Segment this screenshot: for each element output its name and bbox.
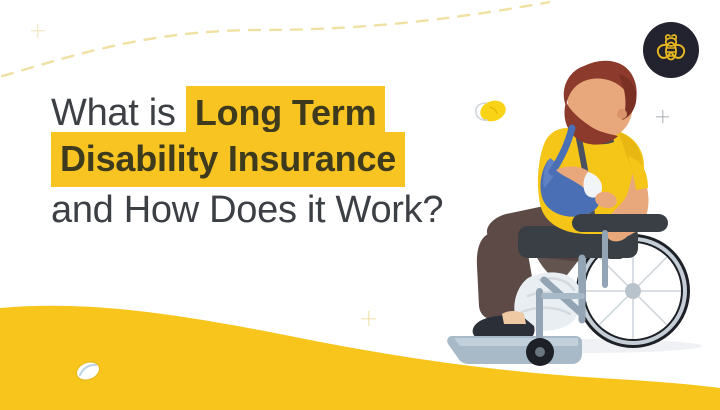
bee-logo[interactable] bbox=[643, 22, 699, 78]
pill-yellow-top-icon bbox=[466, 96, 510, 126]
sparkle-top-left-icon bbox=[31, 24, 45, 38]
shoulder-strap bbox=[576, 124, 592, 214]
bee-icon bbox=[651, 30, 691, 70]
sparkle-bottom-center-icon bbox=[361, 311, 376, 326]
hair bbox=[564, 61, 637, 110]
headline-line-2: Disability Insurance bbox=[51, 141, 471, 177]
man-in-wheelchair-illustration bbox=[432, 48, 720, 384]
trousers-lower bbox=[477, 232, 536, 319]
headline-line-3: and How Does it Work? bbox=[51, 191, 471, 229]
armrest bbox=[572, 214, 668, 232]
page-title: What is Long Term Disability Insurance a… bbox=[51, 94, 471, 229]
headline-plain-suffix: and How Does it Work? bbox=[51, 189, 443, 231]
headline-line-1: What is Long Term bbox=[51, 94, 471, 132]
wrist-bandage bbox=[584, 172, 603, 198]
headline-plain-prefix: What is bbox=[51, 92, 186, 134]
hero-banner: What is Long Term Disability Insurance a… bbox=[0, 0, 720, 410]
arm-sling bbox=[541, 160, 601, 217]
head bbox=[568, 71, 633, 138]
right-arm bbox=[608, 170, 648, 237]
wheelchair-caster-wheel bbox=[526, 288, 554, 366]
wheelchair-rear-wheel bbox=[576, 234, 690, 348]
shoe bbox=[473, 315, 535, 340]
wheelchair-seat bbox=[518, 226, 638, 258]
sparkle-right-icon bbox=[656, 110, 669, 123]
headline-highlight-2: Disability Insurance bbox=[51, 132, 405, 187]
trousers-upper bbox=[487, 198, 598, 261]
leg-cast bbox=[514, 272, 581, 330]
pill-white-bottom-icon bbox=[70, 358, 106, 384]
shirt bbox=[538, 128, 644, 234]
bottom-yellow-wave bbox=[0, 280, 720, 410]
beard bbox=[564, 102, 618, 145]
footplate bbox=[447, 336, 582, 364]
